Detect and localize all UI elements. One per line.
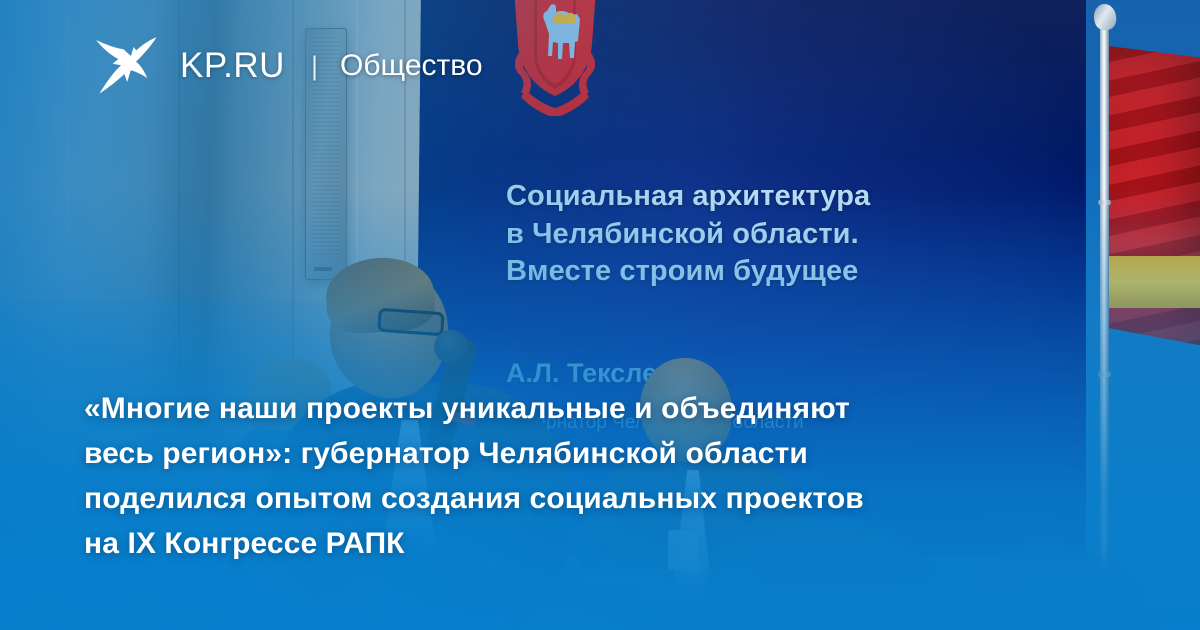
headline: «Многие наши проекты уникальные и объеди… (84, 386, 1054, 566)
headline-line-2: весь регион»: губернатор Челябинской обл… (84, 431, 1054, 476)
brand-bar: KP.RU | Общество (92, 36, 483, 96)
headline-line-3: поделился опытом создания социальных про… (84, 476, 1054, 521)
article-share-card: Социальная архитектура в Челябинской обл… (0, 0, 1200, 630)
headline-line-1: «Многие наши проекты уникальные и объеди… (84, 386, 1054, 431)
section-label[interactable]: Общество (340, 49, 483, 83)
brand-separator: | (311, 51, 318, 82)
brand-name[interactable]: KP.RU (180, 46, 285, 86)
headline-line-4: на IX Конгрессе РАПК (84, 521, 1054, 566)
swallow-bird-logo-icon[interactable] (92, 35, 158, 97)
